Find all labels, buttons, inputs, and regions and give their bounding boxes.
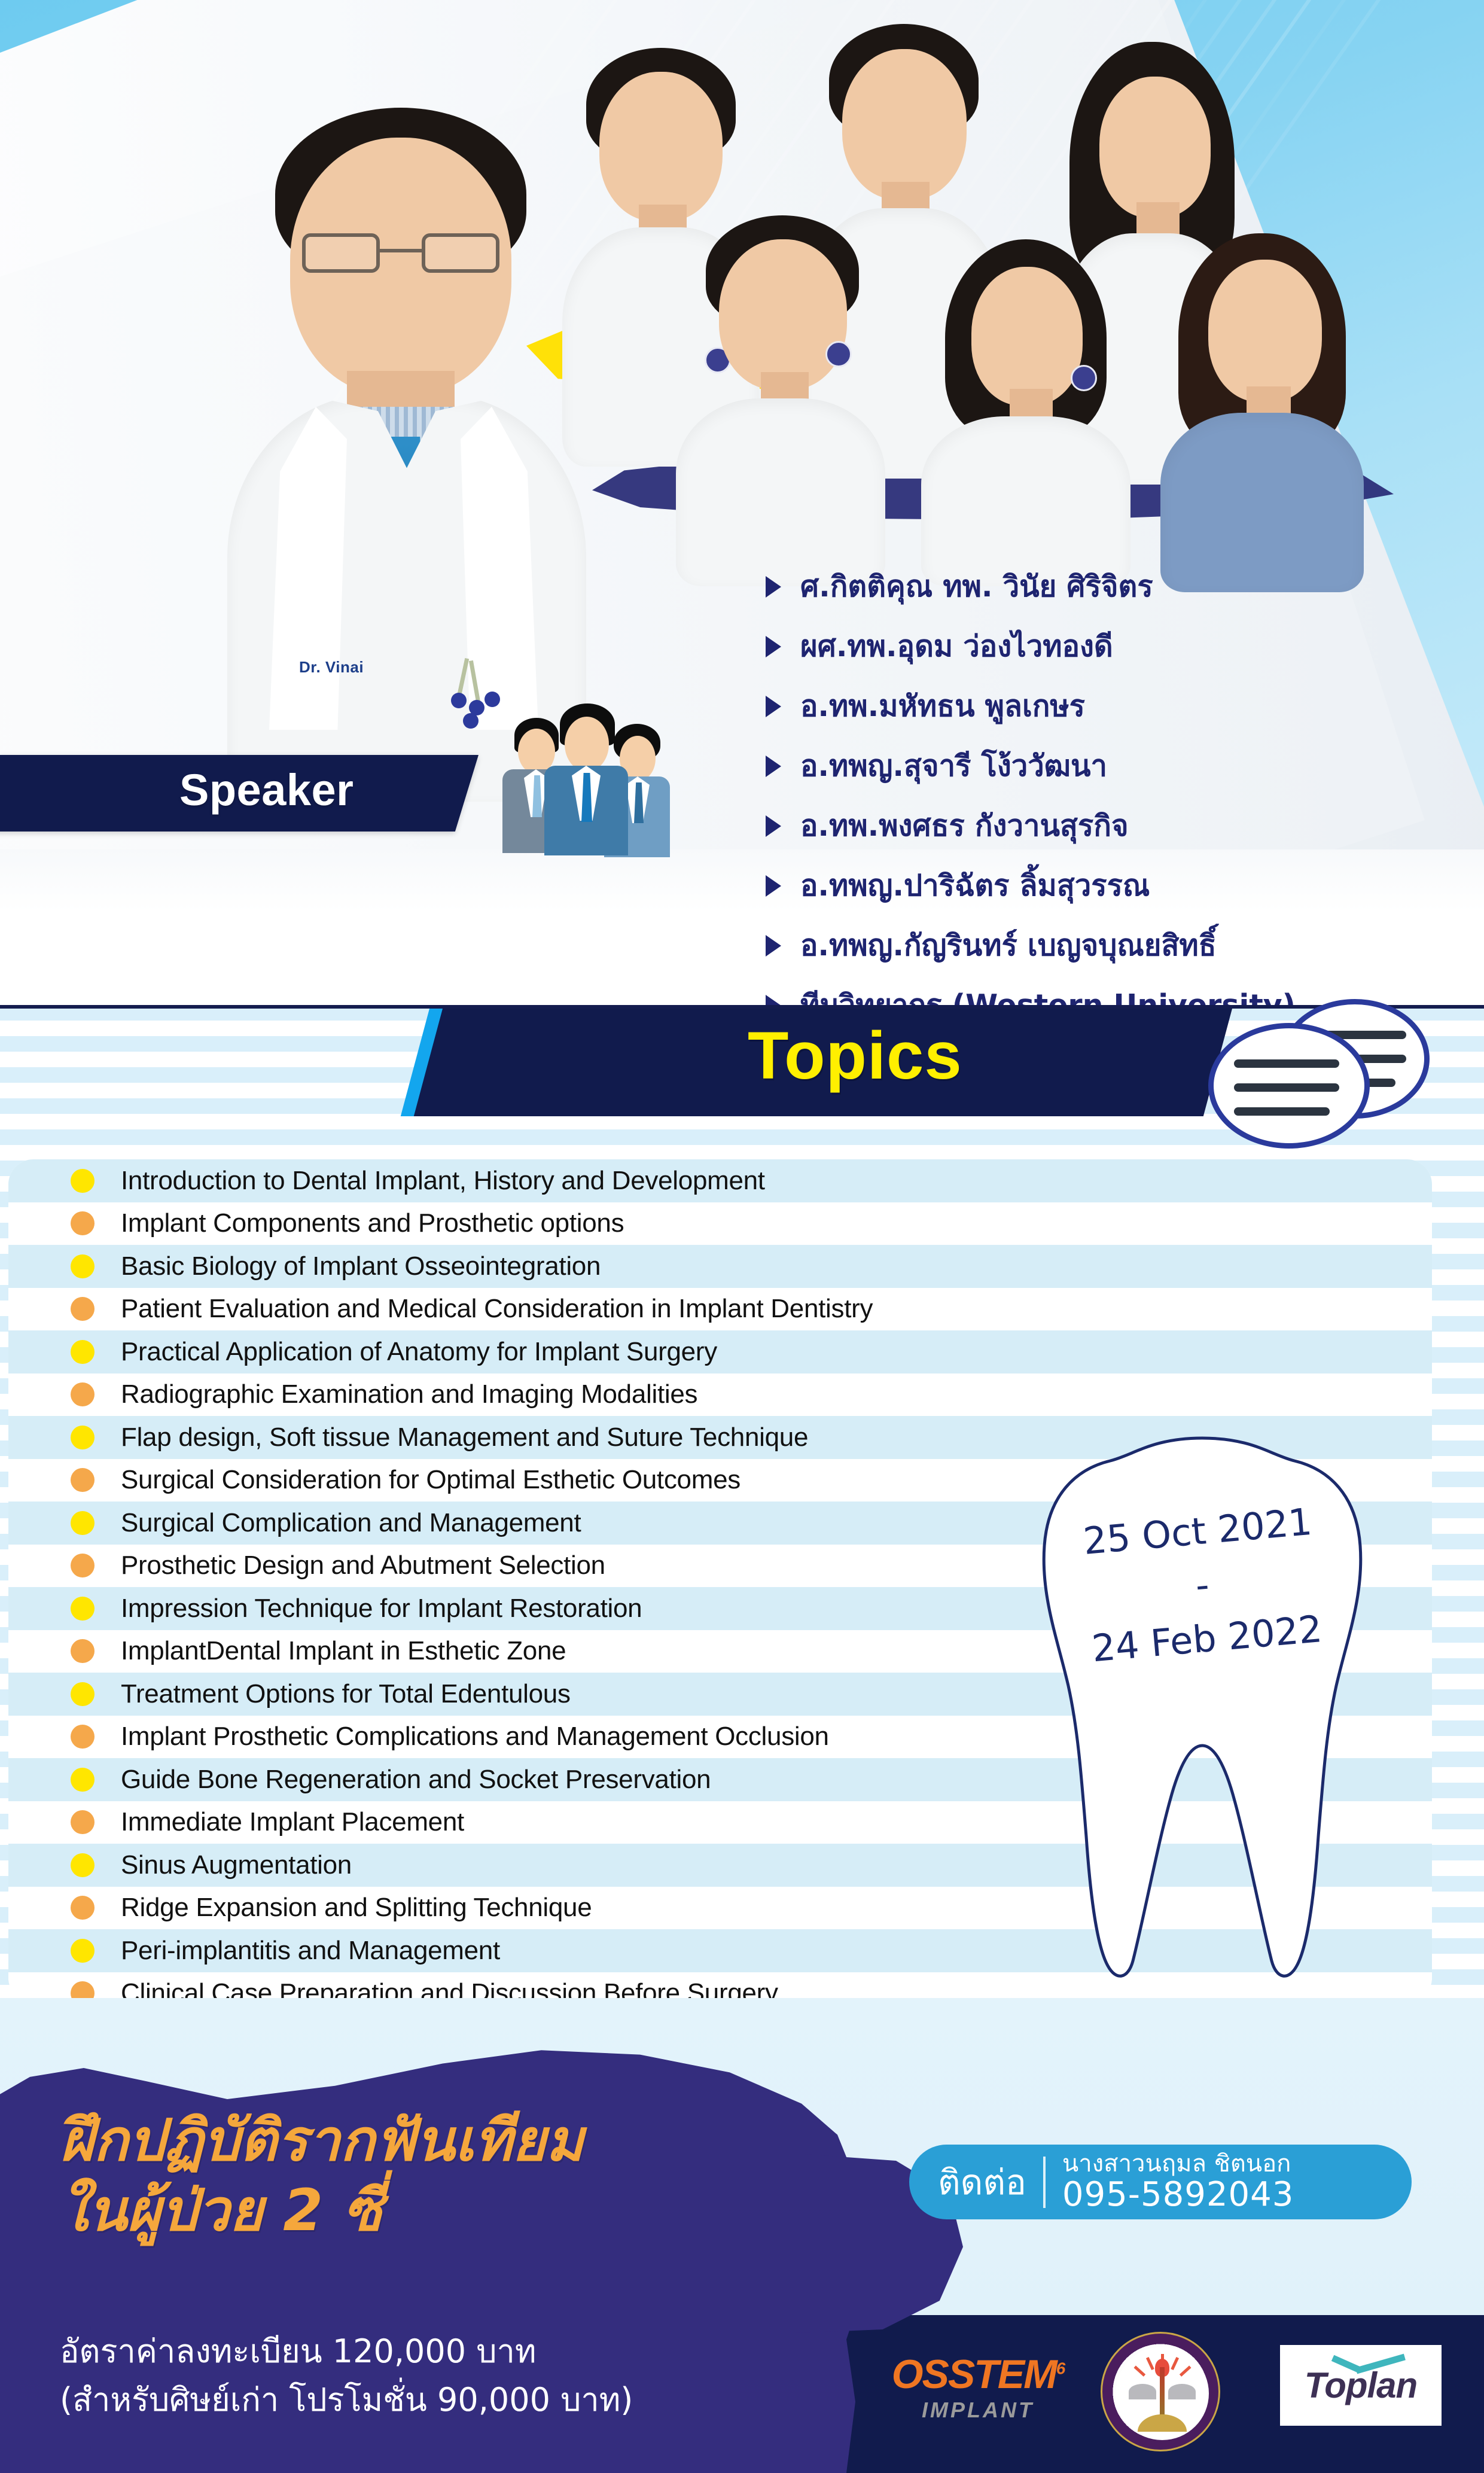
- speaker-name: ศ.กิตติคุณ ทพ. วินัย ศิริจิตร: [800, 563, 1153, 610]
- speaker-list-item: อ.ทพ.พงศธร กังวานสุรกิจ: [760, 796, 1465, 855]
- price-line-1: อัตราค่าลงทะเบียน 120,000 บาท: [60, 2327, 837, 2375]
- topic-bullet-icon: [71, 1340, 95, 1364]
- topic-label: Patient Evaluation and Medical Considera…: [121, 1294, 873, 1324]
- topic-row: Patient Evaluation and Medical Considera…: [8, 1288, 1432, 1331]
- topic-row: Introduction to Dental Implant, History …: [8, 1159, 1432, 1202]
- topic-label: Ridge Expansion and Splitting Technique: [121, 1893, 592, 1923]
- triangle-bullet-icon: [760, 572, 787, 600]
- tooth-date-badge: 25 Oct 2021 - 24 Feb 2022: [1011, 1418, 1394, 1992]
- speaker-list-item: อ.ทพญ.สุจารี โง้ววัฒนา: [760, 736, 1465, 796]
- topic-bullet-icon: [71, 1682, 95, 1706]
- speaker-list: ศ.กิตติคุณ ทพ. วินัย ศิริจิตรผศ.ทพ.อุดม …: [760, 556, 1465, 1035]
- topic-bullet-icon: [71, 1597, 95, 1621]
- topic-bullet-icon: [71, 1896, 95, 1920]
- topic-row: Implant Components and Prosthetic option…: [8, 1202, 1432, 1245]
- topic-label: Sinus Augmentation: [121, 1850, 352, 1880]
- triangle-bullet-icon: [760, 692, 787, 720]
- topic-bullet-icon: [71, 1511, 95, 1535]
- speaker-name: อ.ทพญ.สุจารี โง้ววัฒนา: [800, 742, 1107, 789]
- contact-pill[interactable]: ติดต่อ นางสาวนฤมล ชิตนอก 095-5892043: [909, 2145, 1412, 2219]
- osstem-superscript: 6: [1056, 2359, 1065, 2377]
- western-university-dentistry-seal: [1101, 2332, 1220, 2451]
- topic-label: Prosthetic Design and Abutment Selection: [121, 1551, 605, 1580]
- topic-label: Radiographic Examination and Imaging Mod…: [121, 1379, 697, 1409]
- speaker-list-item: ศ.กิตติคุณ ทพ. วินัย ศิริจิตร: [760, 556, 1465, 616]
- speaker-name: อ.ทพ.พงศธร กังวานสุรกิจ: [800, 802, 1129, 849]
- topic-label: Practical Application of Anatomy for Imp…: [121, 1337, 717, 1367]
- topic-label: Surgical Complication and Management: [121, 1508, 581, 1538]
- doctor-nameplate: Dr. Vinai: [299, 658, 364, 677]
- price-line-2: (สำหรับศิษย์เก่า โปรโมชั่น 90,000 บาท): [60, 2375, 837, 2424]
- topic-bullet-icon: [71, 1639, 95, 1663]
- speech-bubbles-icon: [1208, 999, 1436, 1155]
- toplan-logo: Toplan: [1280, 2345, 1442, 2426]
- contact-details: นางสาวนฤมล ชิตนอก 095-5892043: [1046, 2151, 1294, 2213]
- triangle-bullet-icon: [760, 752, 787, 779]
- topic-label: Impression Technique for Implant Restora…: [121, 1594, 642, 1624]
- headline-line-2: ในผู้ป่วย 2 ซี่: [60, 2176, 837, 2246]
- topic-bullet-icon: [71, 1382, 95, 1406]
- contact-label: ติดต่อ: [909, 2154, 1043, 2210]
- tooth-dates-text: 25 Oct 2021 - 24 Feb 2022: [1040, 1491, 1364, 1679]
- topic-bullet-icon: [71, 1297, 95, 1321]
- topic-bullet-icon: [71, 1254, 95, 1278]
- topic-bullet-icon: [71, 1853, 95, 1877]
- speaker-list-item: อ.ทพญ.ปาริฉัตร ลิ้มสุวรรณ: [760, 855, 1465, 915]
- triangle-bullet-icon: [760, 812, 787, 839]
- topic-row: Basic Biology of Implant Osseointegratio…: [8, 1245, 1432, 1288]
- speaker-name: อ.ทพญ.ปาริฉัตร ลิ้มสุวรรณ: [800, 862, 1150, 909]
- topic-bullet-icon: [71, 1468, 95, 1492]
- speaker-list-item: ผศ.ทพ.อุดม ว่องไวทองดี: [760, 616, 1465, 676]
- group-people-icon: [502, 694, 670, 849]
- topic-label: Surgical Consideration for Optimal Esthe…: [121, 1465, 741, 1495]
- speaker-list-item: อ.ทพ.มหัทธน พูลเกษร: [760, 676, 1465, 736]
- topic-row: Radiographic Examination and Imaging Mod…: [8, 1373, 1432, 1417]
- topic-bullet-icon: [71, 1725, 95, 1749]
- topic-label: Introduction to Dental Implant, History …: [121, 1166, 765, 1196]
- topic-bullet-icon: [71, 1768, 95, 1792]
- topic-label: Basic Biology of Implant Osseointegratio…: [121, 1251, 601, 1281]
- topic-bullet-icon: [71, 1810, 95, 1834]
- topic-label: Immediate Implant Placement: [121, 1807, 464, 1837]
- team-photo-4: [676, 215, 885, 586]
- topic-label: Peri-implantitis and Management: [121, 1936, 500, 1966]
- triangle-bullet-icon: [760, 872, 787, 899]
- speaker-banner-label: Speaker: [179, 765, 354, 815]
- topic-bullet-icon: [71, 1211, 95, 1235]
- topic-bullet-icon: [71, 1554, 95, 1577]
- footer-price-block: อัตราค่าลงทะเบียน 120,000 บาท (สำหรับศิษ…: [60, 2327, 837, 2424]
- topics-title: Topics: [748, 1017, 962, 1094]
- topic-label: Guide Bone Regeneration and Socket Prese…: [121, 1765, 711, 1795]
- contact-phone-number[interactable]: 095-5892043: [1062, 2176, 1294, 2213]
- speaker-list-item: อ.ทพญ.กัญรินทร์ เบญจบุณยสิทธิ์: [760, 915, 1465, 975]
- speaker-name: อ.ทพญ.กัญรินทร์ เบญจบุณยสิทธิ์: [800, 922, 1217, 969]
- footer-headline: ฝึกปฏิบัติรากฟันเทียม ในผู้ป่วย 2 ซี่: [60, 2106, 837, 2246]
- osstem-wordmark: OSSTEM: [892, 2352, 1056, 2397]
- toplan-check-icon: [1331, 2353, 1403, 2375]
- topic-bullet-icon: [71, 1939, 95, 1963]
- headline-line-1: ฝึกปฏิบัติรากฟันเทียม: [60, 2106, 837, 2176]
- poster-root: Dr. Vinai Speaker: [0, 0, 1484, 2473]
- eyeglasses-icon: [302, 233, 499, 275]
- team-photo-5: [921, 239, 1130, 586]
- main-speaker-photo: Dr. Vinai: [179, 72, 622, 790]
- sponsor-logos: OSSTEM6 IMPLANT Toplan: [861, 2327, 1459, 2465]
- speaker-name: อ.ทพ.มหัทธน พูลเกษร: [800, 683, 1085, 729]
- contact-person-name: นางสาวนฤมล ชิตนอก: [1062, 2151, 1294, 2176]
- topic-label: Implant Components and Prosthetic option…: [121, 1208, 624, 1238]
- osstem-implant-logo: OSSTEM6 IMPLANT: [891, 2351, 1065, 2423]
- topic-label: Treatment Options for Total Edentulous: [121, 1679, 571, 1709]
- osstem-subtitle: IMPLANT: [891, 2398, 1065, 2423]
- topic-label: Implant Prosthetic Complications and Man…: [121, 1722, 829, 1752]
- topic-bullet-icon: [71, 1426, 95, 1449]
- topic-row: Practical Application of Anatomy for Imp…: [8, 1330, 1432, 1373]
- topic-label: ImplantDental Implant in Esthetic Zone: [121, 1636, 566, 1666]
- topic-bullet-icon: [71, 1169, 95, 1193]
- speaker-name: ผศ.ทพ.อุดม ว่องไวทองดี: [800, 623, 1113, 669]
- triangle-bullet-icon: [760, 632, 787, 660]
- topic-label: Flap design, Soft tissue Management and …: [121, 1423, 808, 1452]
- triangle-bullet-icon: [760, 931, 787, 959]
- team-photo-6: [1154, 233, 1370, 592]
